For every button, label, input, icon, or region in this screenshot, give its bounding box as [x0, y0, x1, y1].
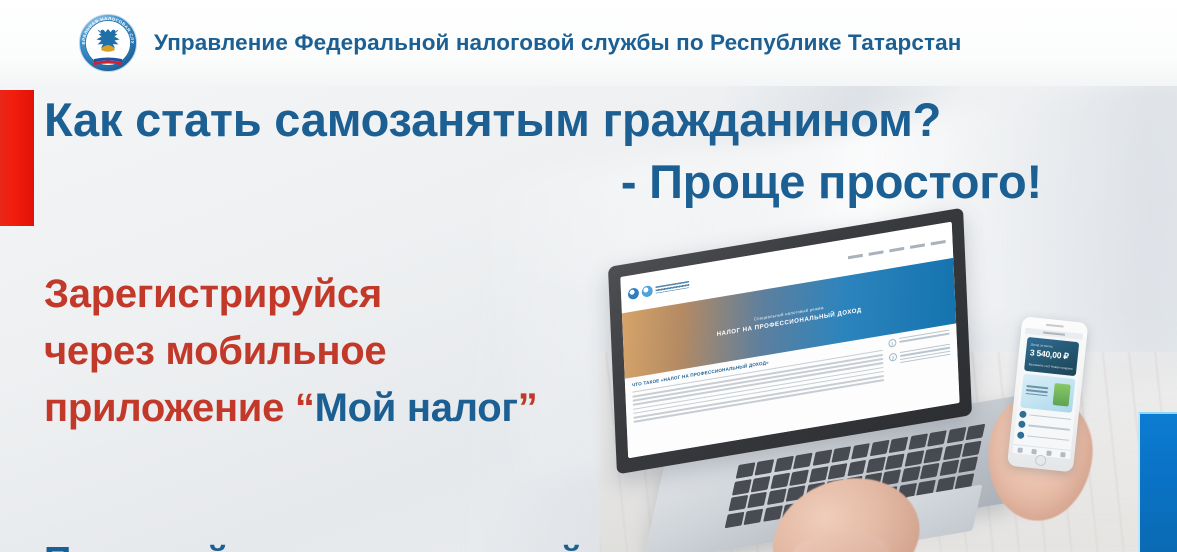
photo-composition: Специальный налоговый режим НАЛОГ НА ПРО…	[600, 230, 1160, 552]
phone-card-actions: Выставить счёт Новая продажа	[1029, 362, 1073, 371]
site-step-text	[900, 343, 951, 365]
phone-promo-banner	[1020, 373, 1075, 412]
cta-line-3-prefix: приложение	[44, 386, 295, 430]
site-step-text	[899, 329, 950, 344]
site-steps-sidebar: 1 2	[888, 329, 952, 409]
site-step-number: 1	[888, 338, 896, 347]
phone-action-left[interactable]: Выставить счёт	[1029, 362, 1051, 368]
cta-block: Зарегистрируйся через мобильное приложен…	[44, 266, 537, 436]
headline-block: Как стать самозанятым гражданином? - Про…	[44, 96, 1054, 206]
site-nav-item	[869, 250, 884, 255]
site-nav	[848, 239, 946, 258]
phone-tab-icon[interactable]	[1032, 449, 1037, 454]
headline-line-2: - Проще простого!	[44, 158, 1054, 206]
cta-quote-close: ”	[518, 386, 538, 430]
headline-line-1: Как стать самозанятым гражданином?	[44, 96, 1054, 144]
phone-tab-icon[interactable]	[1017, 447, 1022, 452]
site-nav-item	[889, 246, 904, 251]
laptop-screen: Специальный налоговый режим НАЛОГ НА ПРО…	[620, 222, 959, 459]
site-logo-emblem-icon	[628, 287, 639, 300]
cta-line-1: Зарегистрируйся	[44, 266, 537, 323]
red-accent-bar	[0, 90, 34, 226]
site-nav-item	[910, 243, 925, 248]
phone-action-right[interactable]: Новая продажа	[1051, 364, 1073, 370]
phone-tab-icon[interactable]	[1060, 452, 1065, 457]
phone-balance-card: Доход за месяц 3 540,00 ₽ Выставить счёт…	[1024, 337, 1079, 376]
cta-quote-open: “	[295, 386, 315, 430]
phone-promo-image	[1053, 383, 1071, 407]
phone-composition: Доход за месяц 3 540,00 ₽ Выставить счёт…	[988, 315, 1118, 525]
header-title: Управление Федеральной налоговой службы …	[154, 30, 961, 56]
site-brand-wordmark	[655, 280, 689, 293]
site-step-item: 2	[889, 343, 951, 367]
federal-tax-service-emblem-icon: ФЕДЕРАЛЬНАЯ НАЛОГОВАЯ СЛУЖБА	[78, 12, 138, 74]
laptop-illustration: Специальный налоговый режим НАЛОГ НА ПРО…	[600, 230, 1030, 530]
phone-tab-icon[interactable]	[1046, 450, 1051, 455]
site-step-number: 2	[889, 352, 897, 361]
poster-canvas: ФЕДЕРАЛЬНАЯ НАЛОГОВАЯ СЛУЖБА Управление …	[0, 0, 1177, 552]
phone-transaction-list	[1017, 410, 1072, 447]
site-nav-item	[848, 253, 863, 258]
cta-line-3: приложение “Мой налог”	[44, 380, 537, 437]
site-nav-item	[931, 239, 946, 244]
phone-promo-text	[1025, 385, 1048, 398]
header-bar: ФЕДЕРАЛЬНАЯ НАЛОГОВАЯ СЛУЖБА Управление …	[0, 0, 1177, 86]
list-item	[1017, 431, 1069, 443]
cta-line-2: через мобильное	[44, 323, 537, 380]
site-logo-secondary-icon	[642, 284, 653, 297]
phone-screen: Доход за месяц 3 540,00 ₽ Выставить счёт…	[1012, 328, 1083, 459]
cta-app-name: Мой налог	[315, 386, 518, 430]
site-logo	[628, 278, 690, 299]
